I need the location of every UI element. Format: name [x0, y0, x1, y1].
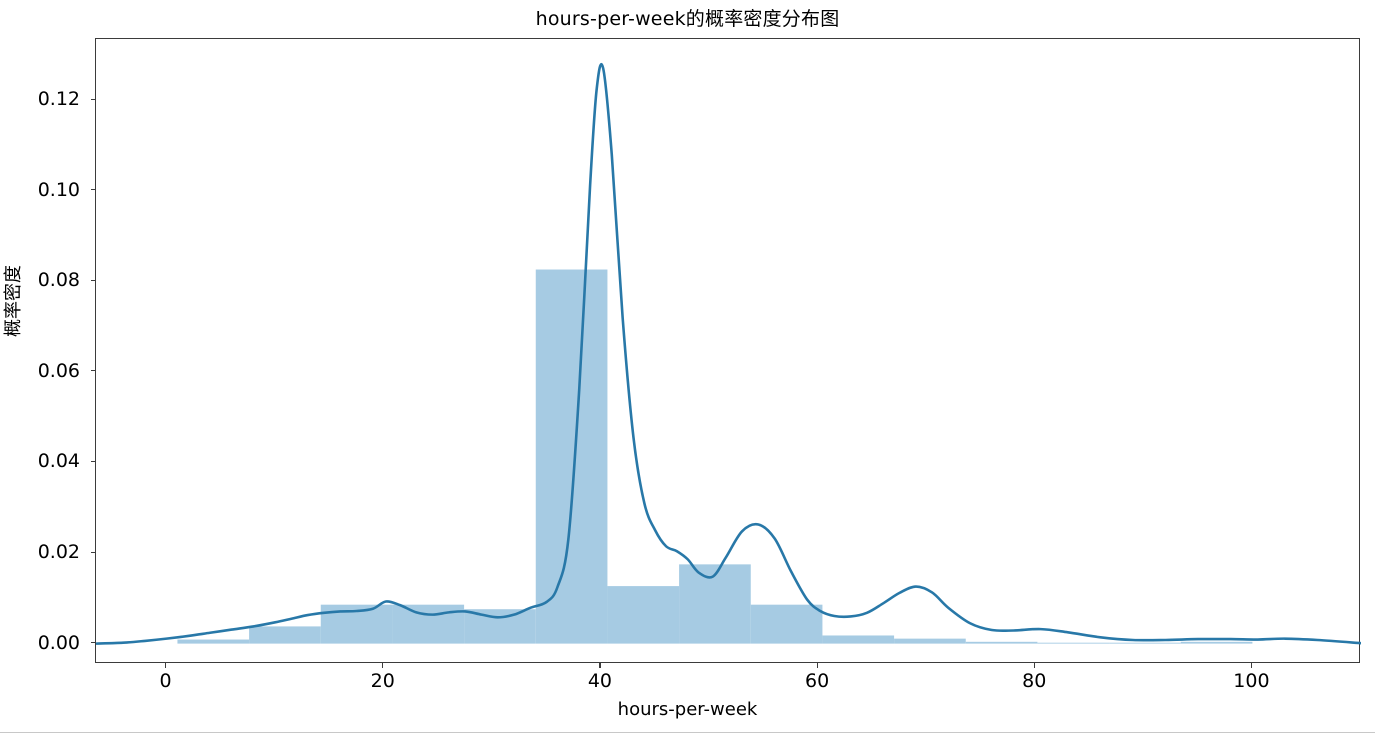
x-tick-label: 100: [1233, 670, 1269, 692]
y-tick-mark: [91, 189, 96, 190]
y-tick-label: 0.08: [38, 269, 80, 291]
x-tick-mark: [817, 663, 818, 668]
histogram-bar: [1181, 642, 1253, 644]
y-tick-mark: [91, 370, 96, 371]
chart-title: hours-per-week的概率密度分布图: [0, 4, 1375, 31]
histogram-bar: [249, 626, 321, 643]
x-tick-mark: [599, 663, 600, 668]
x-tick-mark: [382, 663, 383, 668]
histogram-bars: [177, 270, 1252, 644]
x-tick-label: 80: [1022, 670, 1046, 692]
plot-svg: [96, 39, 1361, 664]
y-tick-label: 0.04: [38, 450, 80, 472]
y-tick-label: 0.00: [38, 632, 80, 654]
x-axis-label: hours-per-week: [0, 699, 1375, 720]
histogram-bar: [894, 639, 966, 644]
x-tick-mark: [1251, 663, 1252, 668]
histogram-bar: [1109, 643, 1181, 644]
y-tick-label: 0.10: [38, 179, 80, 201]
histogram-bar: [607, 586, 679, 644]
y-tick-mark: [91, 99, 96, 100]
x-tick-label: 40: [588, 670, 612, 692]
x-tick-mark: [1034, 663, 1035, 668]
y-tick-label: 0.06: [38, 360, 80, 382]
y-tick-mark: [91, 280, 96, 281]
kde-fill-area: [96, 64, 1361, 643]
y-axis-label: 概率密度: [0, 201, 25, 401]
x-tick-label: 60: [805, 670, 829, 692]
y-tick-mark: [91, 461, 96, 462]
histogram-bar: [822, 635, 894, 643]
histogram-bar: [751, 605, 823, 644]
y-tick-mark: [91, 552, 96, 553]
y-tick-label: 0.12: [38, 88, 80, 110]
y-tick-mark: [91, 642, 96, 643]
histogram-bar: [1037, 643, 1109, 644]
x-tick-mark: [165, 663, 166, 668]
histogram-bar: [392, 605, 464, 644]
plot-area: [95, 38, 1360, 663]
kde-density-line: [96, 64, 1361, 643]
x-tick-label: 20: [371, 670, 395, 692]
histogram-bar: [966, 642, 1038, 644]
x-tick-label: 0: [160, 670, 172, 692]
histogram-bar: [177, 640, 249, 644]
figure-canvas: hours-per-week的概率密度分布图 0.000.020.040.060…: [0, 0, 1375, 733]
y-tick-label: 0.02: [38, 541, 80, 563]
histogram-bar: [536, 270, 608, 644]
